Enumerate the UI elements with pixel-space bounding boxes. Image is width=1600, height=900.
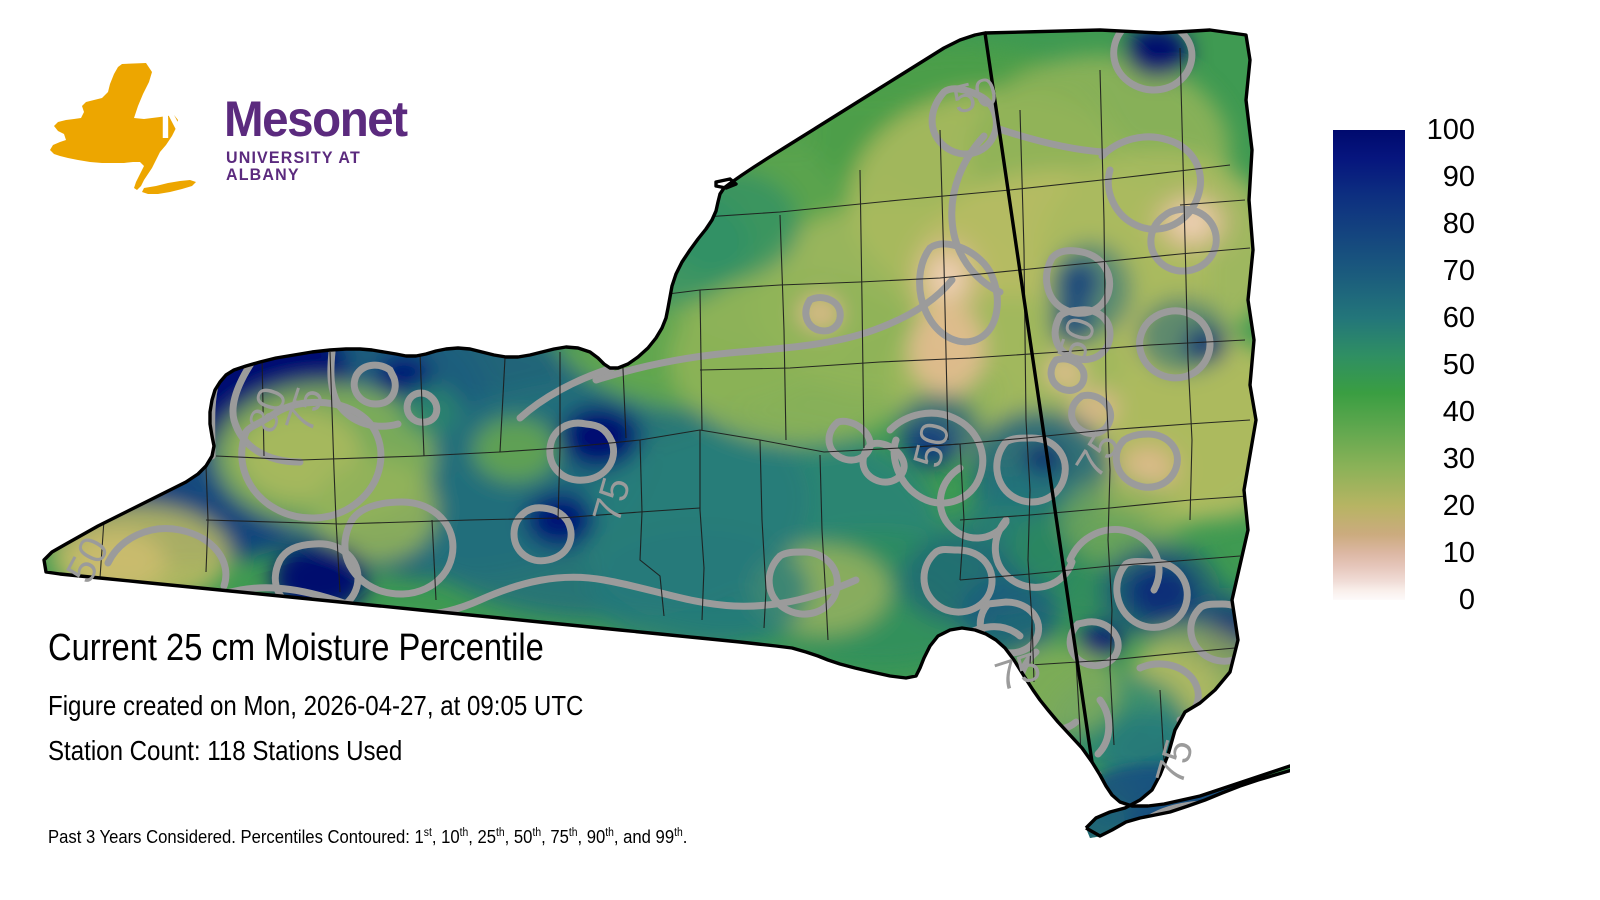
colorbar-tick-90: 90	[1415, 163, 1475, 192]
ordinal-suffix: st	[424, 827, 432, 839]
ordinal-suffix: th	[460, 827, 469, 839]
ordinal-suffix: th	[532, 827, 541, 839]
colorbar-tick-0: 0	[1415, 586, 1475, 615]
ordinal-suffix: th	[496, 827, 505, 839]
ordinal-suffix: th	[674, 827, 683, 839]
colorbar-tick-labels: 1009080706050403020100	[1415, 110, 1475, 620]
caption-block: Current 25 cm Moisture Percentile Figure…	[48, 628, 1048, 766]
ordinal-suffix: th	[569, 827, 578, 839]
colorbar-tick-10: 10	[1415, 539, 1475, 568]
colorbar-tick-70: 70	[1415, 257, 1475, 286]
page-title: Current 25 cm Moisture Percentile	[48, 628, 908, 669]
figure-created-text: Figure created on Mon, 2026-04-27, at 09…	[48, 691, 908, 720]
colorbar-tick-30: 30	[1415, 445, 1475, 474]
colorbar-gradient	[1333, 130, 1405, 600]
ordinal-suffix: th	[605, 827, 614, 839]
colorbar-tick-80: 80	[1415, 210, 1475, 239]
colorbar-tick-40: 40	[1415, 398, 1475, 427]
colorbar-tick-20: 20	[1415, 492, 1475, 521]
colorbar	[1333, 130, 1405, 600]
colorbar-tick-50: 50	[1415, 351, 1475, 380]
colorbar-tick-100: 100	[1415, 116, 1475, 145]
station-count-text: Station Count: 118 Stations Used	[48, 736, 908, 765]
footnote-text: Past 3 Years Considered. Percentiles Con…	[48, 827, 687, 848]
colorbar-tick-60: 60	[1415, 304, 1475, 333]
